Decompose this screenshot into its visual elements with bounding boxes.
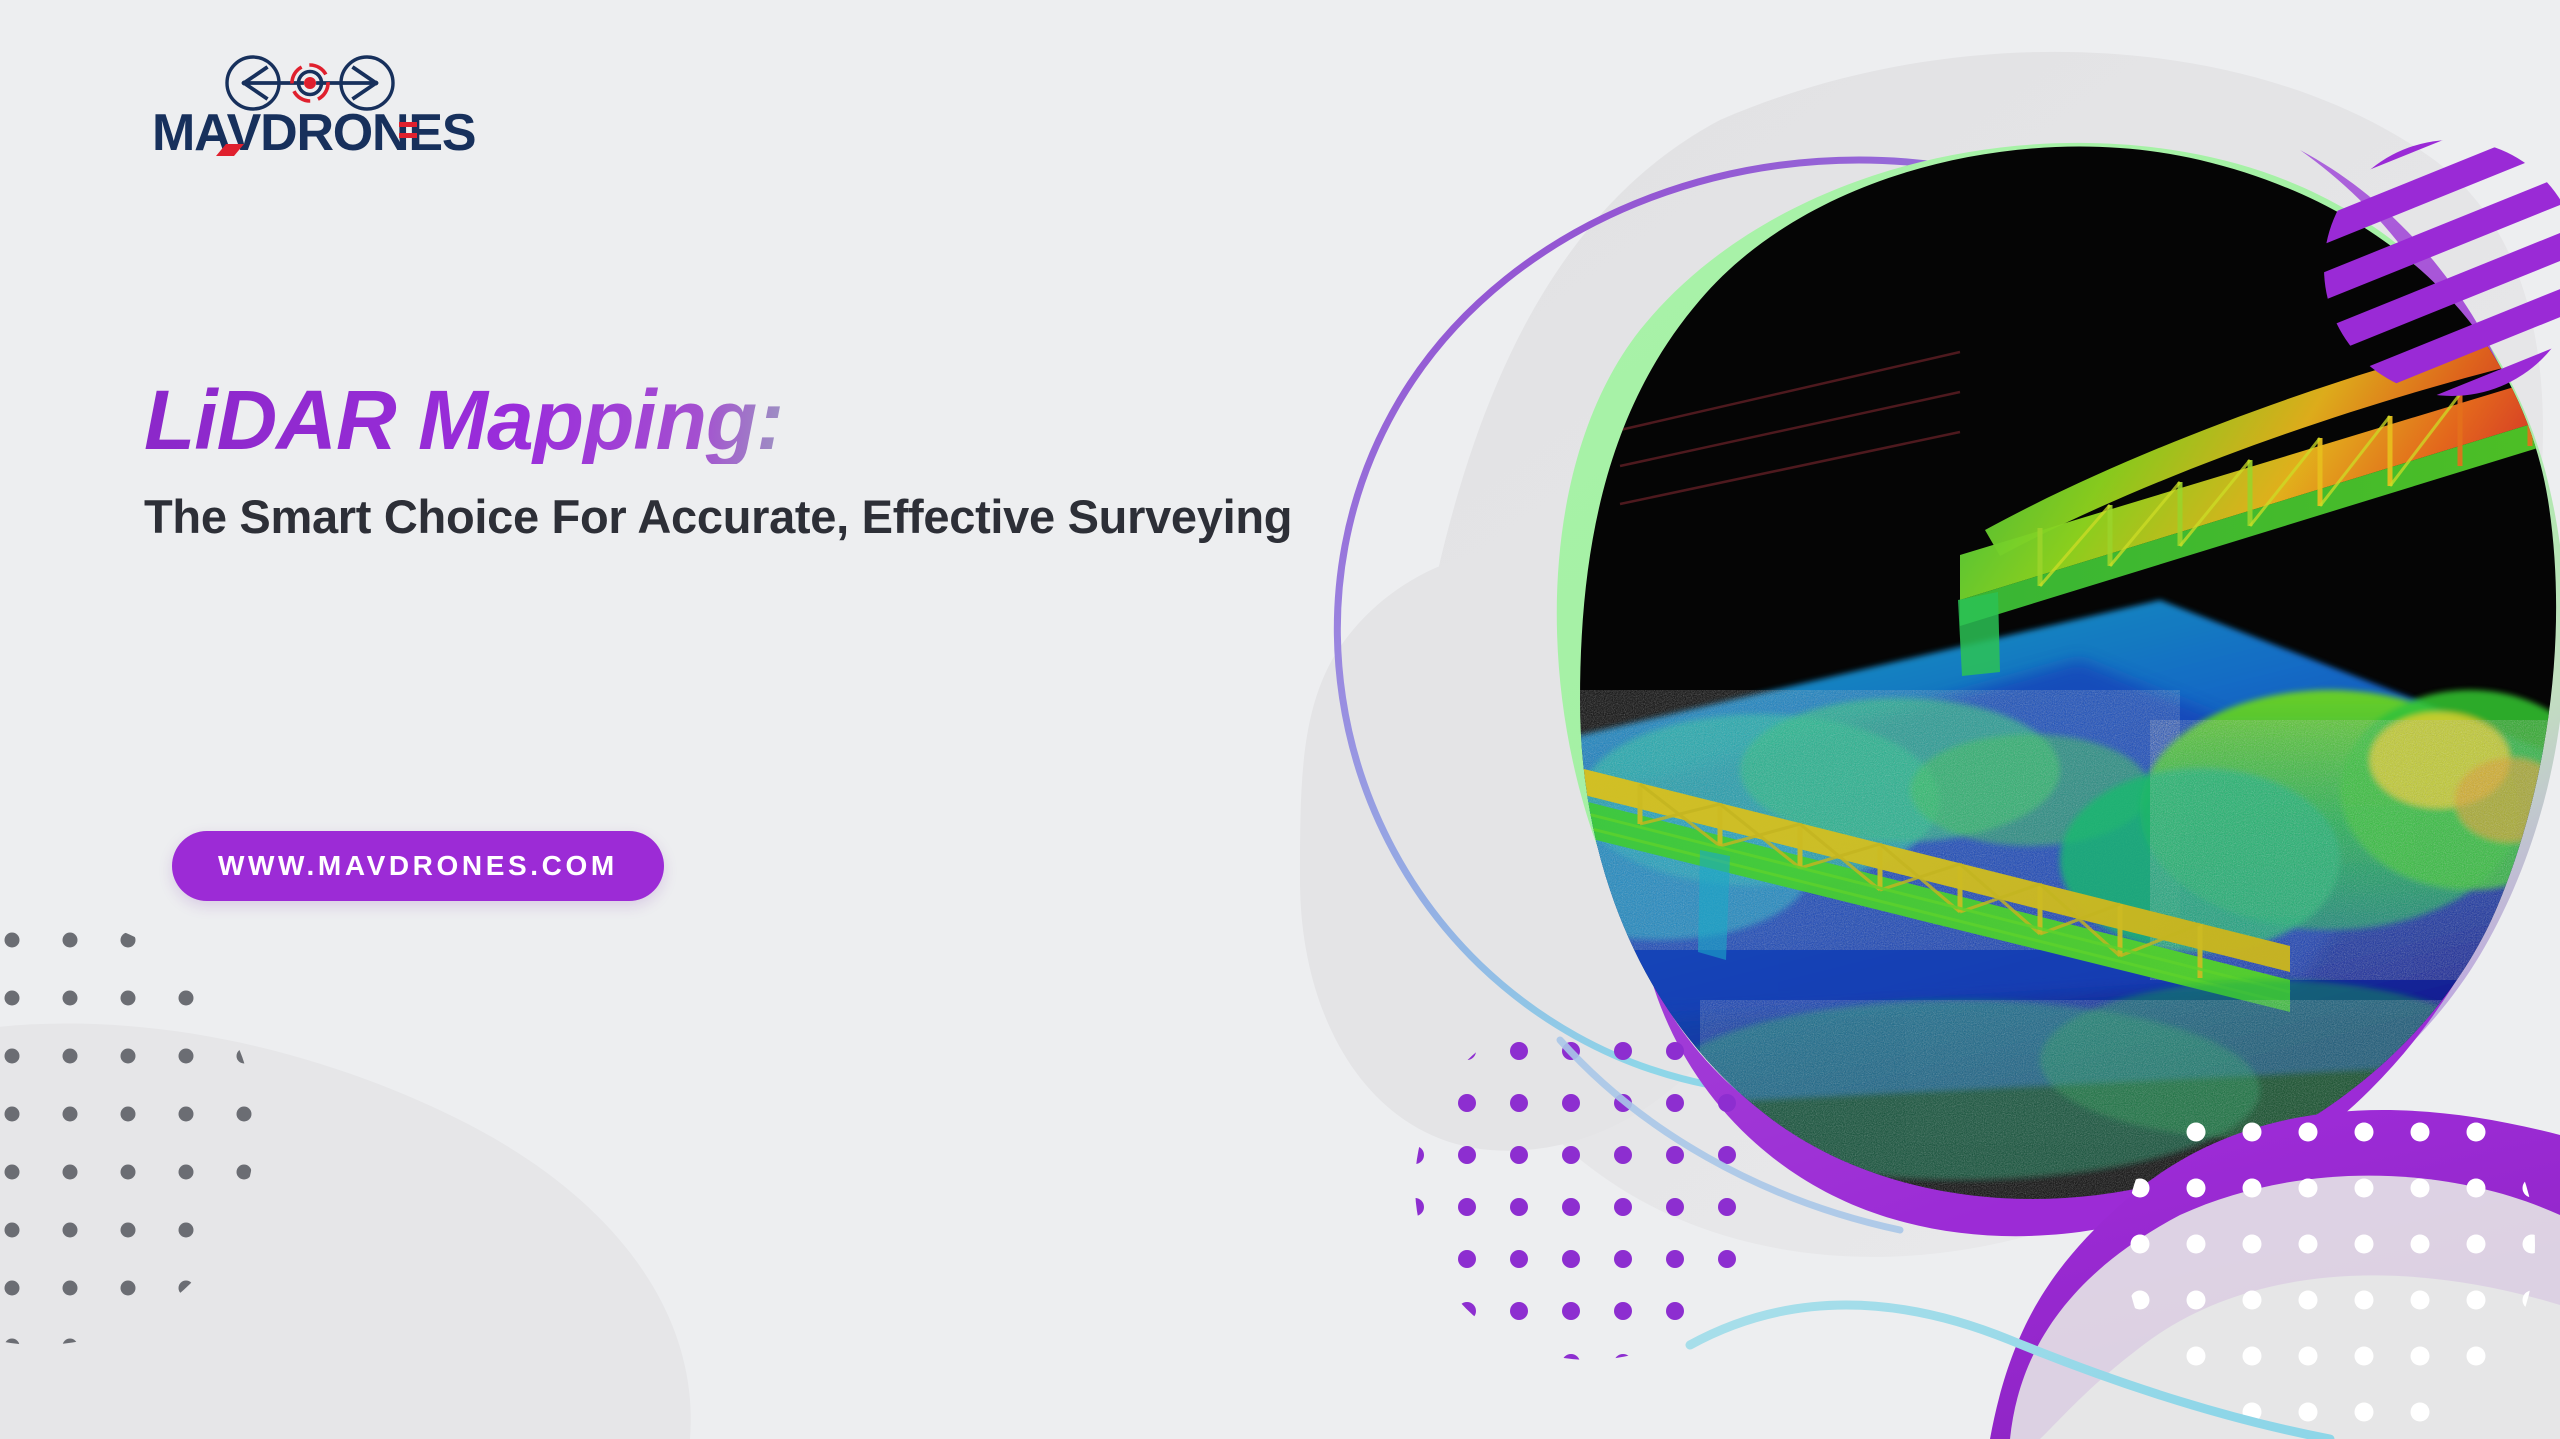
logo-wordmark: MAVDRONES	[152, 104, 512, 160]
hero-banner: MAVDRONES MAVDRONES LiDAR Mapping: The S…	[0, 0, 2560, 1439]
svg-text:MAVDRONES: MAVDRONES	[152, 104, 475, 160]
page-subtitle: The Smart Choice For Accurate, Effective…	[144, 486, 1374, 548]
decorative-background-artwork	[0, 0, 2560, 1439]
logo-text: MAVDRONES	[152, 52, 153, 53]
brand-logo[interactable]: MAVDRONES MAVDRONES	[152, 52, 512, 162]
website-url-button[interactable]: WWW.MAVDRONES.COM	[172, 831, 664, 901]
page-title: LiDAR Mapping:	[144, 376, 1404, 464]
hero-text-block: LiDAR Mapping: The Smart Choice For Accu…	[144, 376, 1404, 548]
